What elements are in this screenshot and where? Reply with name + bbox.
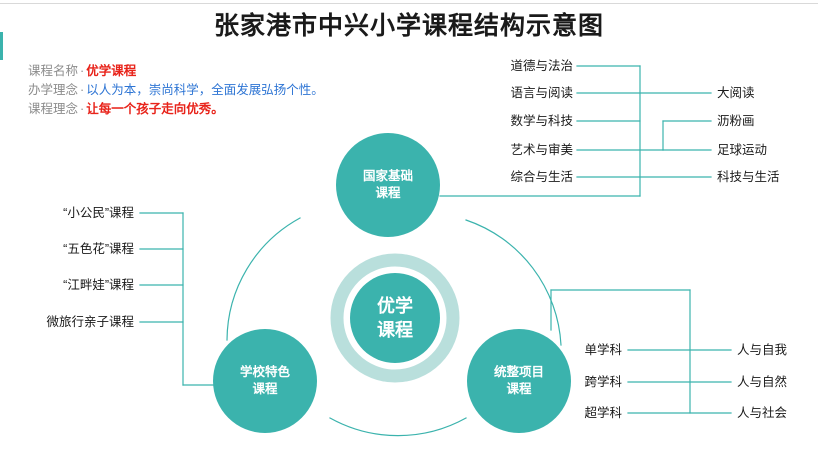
leaf-integrated-3[interactable]: 超学科 [560, 405, 622, 421]
node-label-line2: 课程 [215, 381, 315, 398]
leaf-national-sub-2[interactable]: 沥粉画 [717, 113, 755, 129]
node-label-line1: 学校特色 [215, 364, 315, 381]
diagram-canvas: 张家港市中兴小学课程结构示意图 课程名称·优学课程 办学理念·以人为本，崇尚科学… [0, 0, 818, 454]
diagram-graphics [0, 0, 818, 454]
ring-arc-top-right [466, 220, 561, 345]
center-label-line1: 优学 [345, 294, 445, 318]
node-label-line1: 国家基础 [338, 168, 438, 185]
ring-arc-top-left [227, 218, 300, 340]
leaf-school-features-1[interactable]: “小公民”课程 [6, 205, 134, 221]
node-label-line1: 统整项目 [469, 364, 569, 381]
node-label-line2: 课程 [469, 381, 569, 398]
leaf-national-sub-3[interactable]: 足球运动 [717, 142, 767, 158]
node-label-bottom-right: 统整项目 课程 [469, 364, 569, 398]
leaf-national-3[interactable]: 数学与科技 [437, 113, 573, 129]
center-label-line2: 课程 [345, 318, 445, 342]
leaf-integrated-2[interactable]: 跨学科 [560, 374, 622, 390]
leaf-school-features-4[interactable]: 微旅行亲子课程 [6, 314, 134, 330]
leaf-national-4[interactable]: 艺术与审美 [437, 142, 573, 158]
node-label-bottom-left: 学校特色 课程 [215, 364, 315, 398]
leaf-national-sub-4[interactable]: 科技与生活 [717, 169, 780, 185]
node-label-top: 国家基础 课程 [338, 168, 438, 202]
node-label-line2: 课程 [338, 185, 438, 202]
leaf-integrated-sub-2[interactable]: 人与自然 [737, 374, 787, 390]
center-node-label: 优学 课程 [345, 294, 445, 342]
leaf-school-features-3[interactable]: “江畔娃”课程 [6, 277, 134, 293]
leaf-integrated-1[interactable]: 单学科 [560, 342, 622, 358]
leaf-national-5[interactable]: 综合与生活 [437, 169, 573, 185]
leaf-integrated-sub-3[interactable]: 人与社会 [737, 405, 787, 421]
leaf-national-sub-1[interactable]: 大阅读 [717, 85, 755, 101]
leaf-integrated-sub-1[interactable]: 人与自我 [737, 342, 787, 358]
leaf-national-1[interactable]: 道德与法治 [437, 58, 573, 74]
leaf-national-2[interactable]: 语言与阅读 [437, 85, 573, 101]
ring-arc-bottom [330, 418, 466, 436]
leaf-school-features-2[interactable]: “五色花”课程 [6, 241, 134, 257]
connector-school-features [140, 213, 215, 385]
